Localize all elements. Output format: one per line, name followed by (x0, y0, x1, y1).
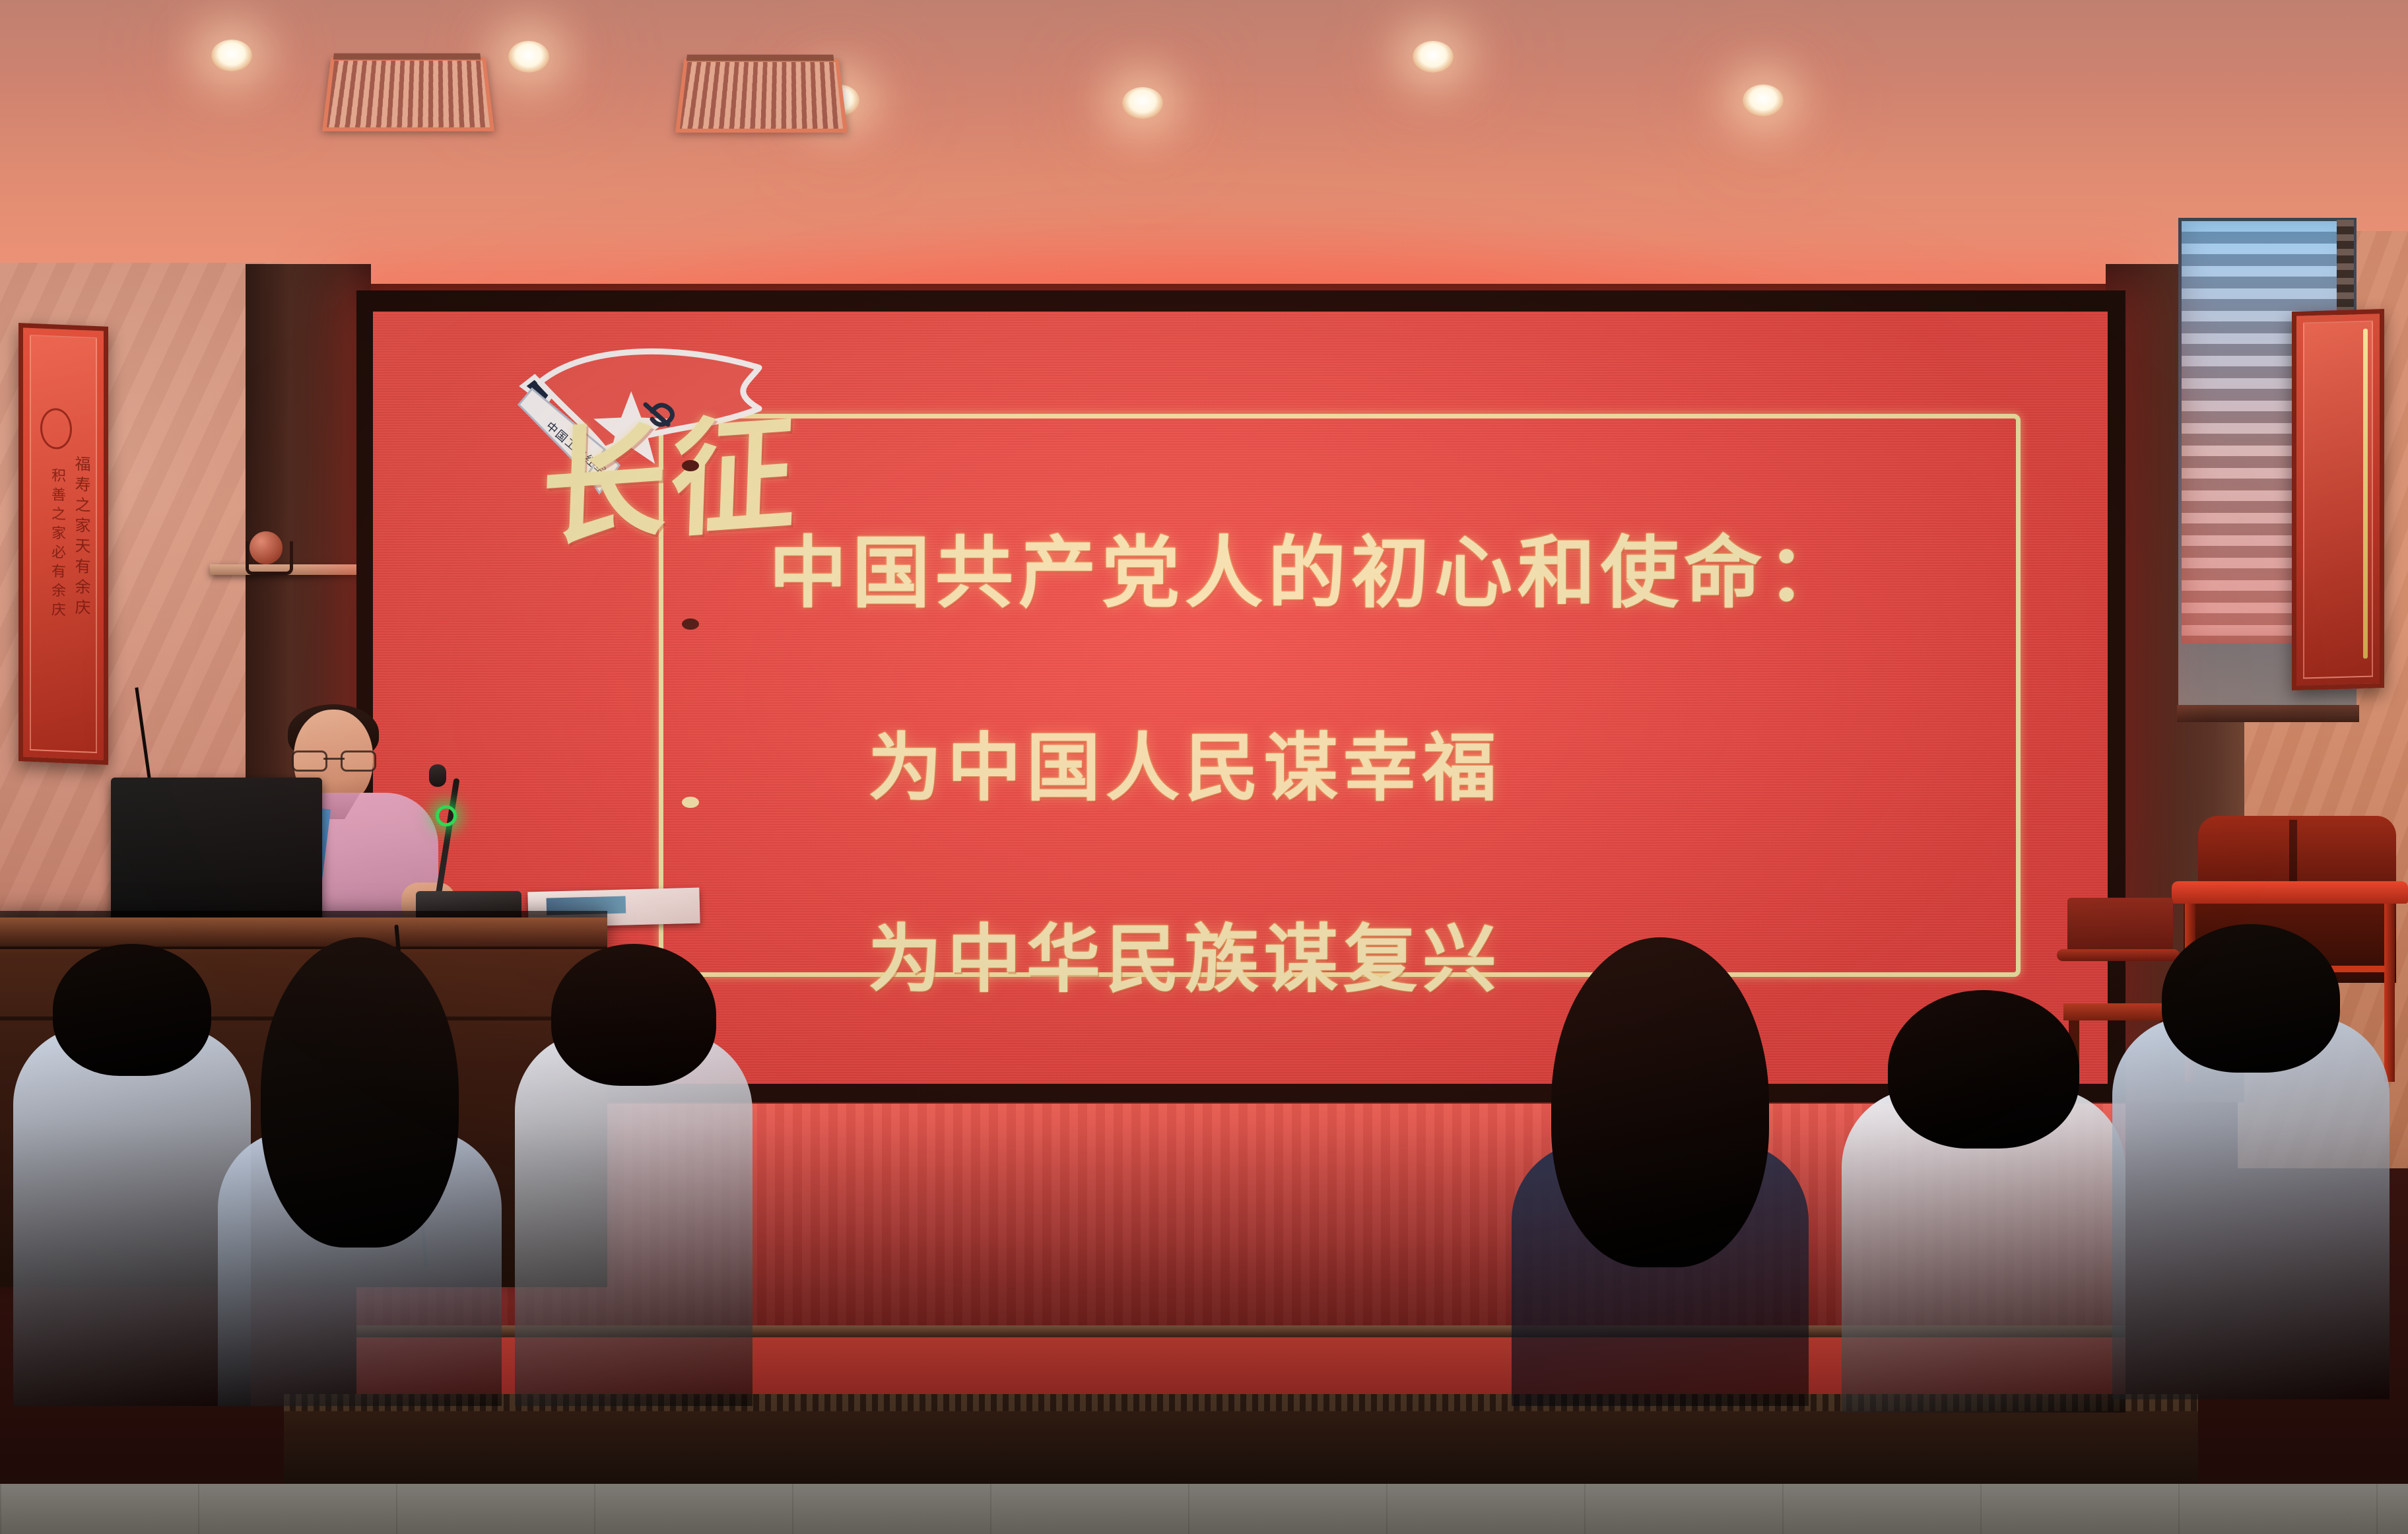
calligraphy-scroll-right (2292, 309, 2384, 690)
ac-vent-2 (675, 59, 848, 133)
audience-head (551, 944, 716, 1086)
microphone-status-led (436, 805, 457, 826)
audience-head (53, 944, 211, 1076)
audience-torso (2112, 1017, 2390, 1400)
wall-base (284, 1411, 2198, 1489)
slide-bullet-3 (682, 797, 699, 808)
dome-camera-icon (250, 531, 283, 564)
audience-head (1888, 990, 2079, 1149)
tile-floor (0, 1484, 2408, 1534)
console-top (2172, 881, 2408, 904)
conference-room-scene: 福寿之家天有余庆 积善之家必有余庆 中国工农红军 长征 (0, 0, 2408, 1534)
slide-line-1: 中国共产党人的初心和使命： (769, 510, 1989, 622)
audience-member (13, 944, 251, 1406)
ceiling (0, 0, 2408, 284)
slide-bullet-1 (682, 460, 699, 471)
window-sill (2177, 705, 2359, 722)
ac-vent-1 (322, 57, 494, 131)
calligraphy-scroll-left: 福寿之家天有余庆 积善之家必有余庆 (18, 323, 108, 765)
calligraphy-long-march: 长征 (540, 421, 802, 547)
audience-head (261, 937, 459, 1248)
glasses-icon (292, 750, 376, 768)
audience-member (1842, 990, 2125, 1413)
audience-member (515, 944, 752, 1406)
scroll-column-1: 福寿之家天有余庆 (69, 455, 92, 619)
vent-cap (686, 55, 834, 61)
slide-line-2: 为中国人民谋幸福 (868, 708, 1989, 815)
audience-head (1551, 937, 1769, 1267)
vent-cap (333, 53, 481, 60)
laptop[interactable] (111, 778, 322, 924)
ceiling-downlight-1 (211, 40, 252, 71)
audience-member (2112, 924, 2390, 1399)
scroll-gold-line (2363, 329, 2368, 659)
ceiling-downlight-6 (1743, 84, 1784, 116)
slide-bullet-column (682, 460, 708, 949)
audience-member (218, 937, 502, 1406)
scroll-column-2: 积善之家必有余庆 (47, 467, 68, 621)
ceiling-downlight-5 (1413, 41, 1454, 73)
slide-text-block: 中国共产党人的初心和使命： 为中国人民谋幸福 为中华民族谋复兴 (769, 510, 1989, 1007)
audience-torso (515, 1032, 752, 1406)
microphone-head[interactable] (429, 764, 446, 787)
scroll-seal (40, 408, 72, 450)
audience-torso (13, 1026, 251, 1406)
ceiling-downlight-2 (508, 41, 549, 73)
slide-line-3: 为中华民族谋复兴 (868, 900, 1989, 1007)
audience-member (1512, 937, 1809, 1406)
slide-bullet-2 (682, 618, 699, 630)
audience-head (2162, 924, 2340, 1073)
ceiling-downlight-4 (1122, 87, 1163, 119)
